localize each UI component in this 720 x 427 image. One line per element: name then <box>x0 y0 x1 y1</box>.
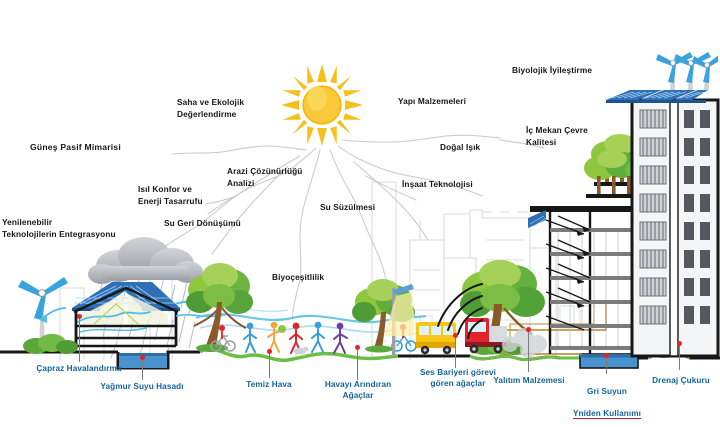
callout-stem <box>679 344 680 370</box>
callout-stem <box>79 318 80 362</box>
callout-dot <box>267 349 272 354</box>
label-yagmur-suyu-hasadi: Yağmur Suyu Hasadı <box>86 381 198 392</box>
street-lamp-icon <box>376 276 414 358</box>
cyclist-icon <box>210 320 238 354</box>
label-saha-ve-ekolojik: Saha ve Ekolojik Değerlendirme <box>177 97 244 120</box>
airflow-arrow-icon <box>38 304 68 326</box>
callout-dot <box>677 341 682 346</box>
wind-turbine-icon <box>656 52 718 92</box>
label-biyocesitlilik: Biyoçeşitlilik <box>272 272 324 284</box>
callout-stem <box>528 330 529 372</box>
callout-stem <box>455 336 456 368</box>
callout-stem <box>269 352 270 378</box>
callout-dot <box>453 333 458 338</box>
label-gri-suyun-line1: Gri Suyun <box>587 387 627 396</box>
apartment-building-icon <box>630 86 720 358</box>
label-drenaj-cukuru: Drenaj Çukuru <box>642 375 720 386</box>
label-su-geri-donusumu: Su Geri Dönüşümü <box>164 218 241 230</box>
label-dogal-isik: Doğal Işık <box>440 142 480 154</box>
shrub-icon <box>22 332 80 354</box>
label-gunes-pasif-mimarisi: Güneş Pasif Mimarisi <box>30 142 121 154</box>
label-capraz-havalandirma: Çapraz Havalandırma <box>17 363 141 374</box>
label-ic-mekan-cevre-kalitesi: İç Mekan Çevre Kalitesi <box>526 125 588 148</box>
label-isil-konfor: Isıl Konfor ve Enerji Tasarrufu <box>138 184 203 207</box>
callout-stem <box>606 356 607 374</box>
label-temiz-hava: Temiz Hava <box>228 379 310 390</box>
sun-icon <box>281 64 363 146</box>
label-arazi-cozunurlugu: Arazi Çözünürlüğü Analizi <box>227 166 302 189</box>
label-havayi-arindiran-agaclar: Havayı Arındıran Ağaçlar <box>312 379 404 401</box>
callout-dot <box>526 327 531 332</box>
callout-stem <box>142 358 143 380</box>
label-gri-suyun-line2: Yniden Kullanımı <box>573 409 641 419</box>
people-group-icon <box>238 318 368 358</box>
infographic-canvas: Güneş Pasif Mimarisi Yenilenebilir Tekno… <box>0 0 720 427</box>
label-gri-suyun-yeniden-kullanimi: Gri Suyun Yniden Kullanımı <box>568 375 646 419</box>
callout-dot <box>77 314 82 319</box>
label-yapi-malzemeleri: Yapı Malzemeleri <box>398 96 466 108</box>
callout-dot <box>355 345 360 350</box>
label-biyolojik-iyilestirme: Biyolojik İyileştirme <box>512 65 592 77</box>
callout-dot <box>140 355 145 360</box>
label-insaat-teknolojisi: İnşaat Teknolojisi <box>402 179 473 191</box>
label-su-suzulmesi: Su Süzülmesi <box>320 202 375 214</box>
callout-dot <box>604 353 609 358</box>
label-yenilenebilir-teknolojiler: Yenilenebilir Teknolojilerin Entegrasyon… <box>2 217 116 240</box>
callout-stem <box>357 348 358 380</box>
